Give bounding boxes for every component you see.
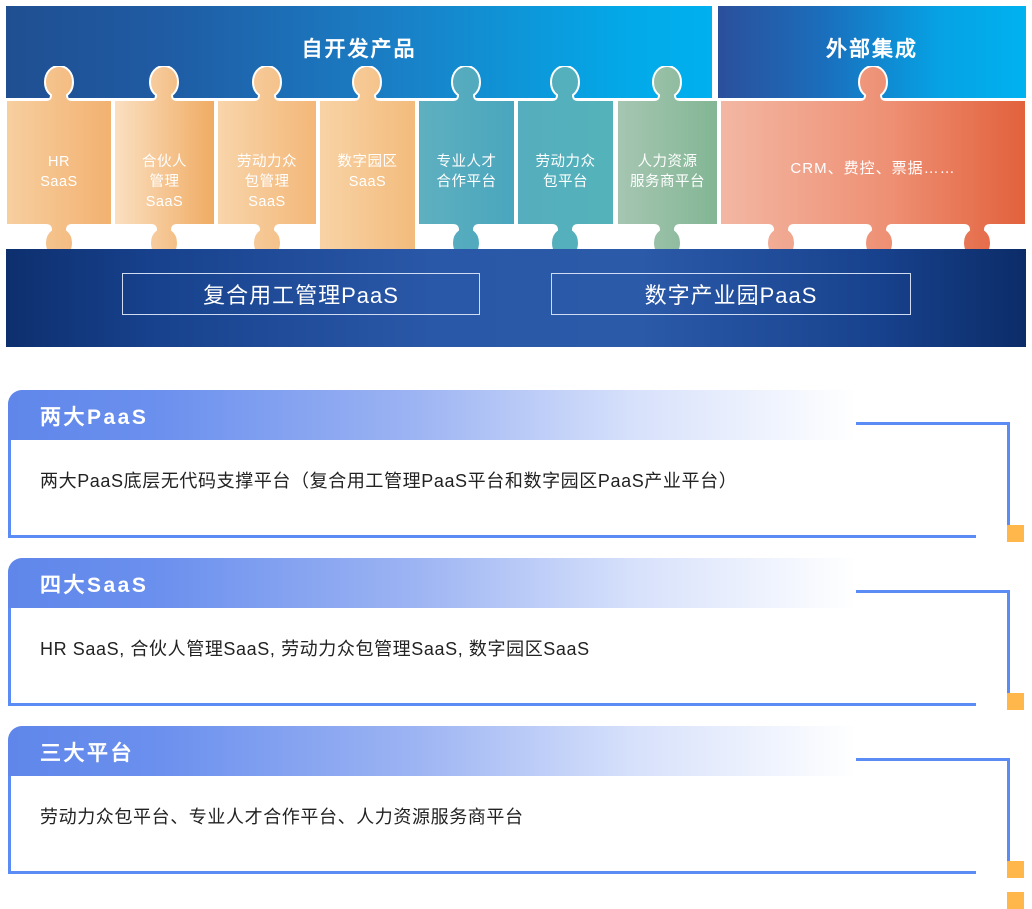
info-card-four-saas: 四大SaaS HR SaaS, 合伙人管理SaaS, 劳动力众包管理SaaS, … (8, 558, 1024, 710)
puzzle-piece-label: 数字园区 SaaS (319, 152, 416, 192)
paas-box-composite-employment[interactable]: 复合用工管理PaaS (122, 273, 480, 315)
card-body-text: 两大PaaS底层无代码支撑平台（复合用工管理PaaS平台和数字园区PaaS产业平… (40, 468, 964, 494)
frame-left-edge (8, 434, 11, 538)
frame-bottom-edge (8, 871, 976, 874)
puzzle-piece-crowdsourcing-platform[interactable]: 劳动力众 包平台 (517, 66, 614, 259)
puzzle-piece-talent-platform[interactable]: 专业人才 合作平台 (418, 66, 515, 259)
header-title-self-developed: 自开发产品 (6, 33, 712, 63)
paas-box-label: 数字产业园PaaS (645, 278, 818, 310)
orange-accent-square (1007, 861, 1024, 878)
frame-bottom-edge (8, 535, 976, 538)
card-header: 两大PaaS (8, 390, 856, 440)
puzzle-piece-label: HR SaaS (6, 152, 112, 192)
puzzle-piece-hr-saas[interactable]: HR SaaS (6, 66, 112, 259)
frame-right-edge (1007, 590, 1010, 704)
card-header: 四大SaaS (8, 558, 856, 608)
card-body-text: 劳动力众包平台、专业人才合作平台、人力资源服务商平台 (40, 804, 964, 830)
paas-box-label: 复合用工管理PaaS (203, 278, 399, 310)
card-title: 三大平台 (40, 737, 134, 767)
puzzle-piece-label: 人力资源 服务商平台 (617, 152, 718, 192)
orange-accent-square (1007, 693, 1024, 710)
header-title-external: 外部集成 (718, 33, 1026, 63)
paas-box-digital-industrial-park[interactable]: 数字产业园PaaS (551, 273, 911, 315)
frame-bottom-edge (8, 703, 976, 706)
info-card-two-paas: 两大PaaS 两大PaaS底层无代码支撑平台（复合用工管理PaaS平台和数字园区… (8, 390, 1024, 542)
external-integration-label: CRM、费控、票据…… (720, 159, 1026, 179)
puzzle-piece-label: 合伙人 管理 SaaS (114, 152, 215, 212)
card-header: 三大平台 (8, 726, 856, 776)
puzzle-piece-row: HR SaaS 合伙人 管理 SaaS 劳动力众 包管理 SaaS (6, 66, 1026, 259)
orange-accent-square-secondary (1007, 892, 1024, 909)
card-title: 两大PaaS (40, 401, 148, 431)
puzzle-piece-label: 劳动力众 包平台 (517, 152, 614, 192)
architecture-diagram: 自开发产品 外部集成 HR SaaS 合伙人 管理 SaaS (6, 6, 1026, 347)
orange-accent-square (1007, 525, 1024, 542)
puzzle-piece-label: 专业人才 合作平台 (418, 152, 515, 192)
puzzle-piece-external-integration[interactable]: CRM、费控、票据…… (720, 66, 1026, 259)
puzzle-piece-partner-saas[interactable]: 合伙人 管理 SaaS (114, 66, 215, 259)
paas-foundation-bar: 复合用工管理PaaS 数字产业园PaaS (6, 249, 1026, 347)
card-title: 四大SaaS (40, 569, 148, 599)
puzzle-piece-label: 劳动力众 包管理 SaaS (217, 152, 317, 212)
frame-right-edge (1007, 422, 1010, 536)
info-card-three-platforms: 三大平台 劳动力众包平台、专业人才合作平台、人力资源服务商平台 (8, 726, 1024, 878)
puzzle-piece-hr-service-platform[interactable]: 人力资源 服务商平台 (617, 66, 718, 259)
frame-right-edge (1007, 758, 1010, 872)
frame-left-edge (8, 770, 11, 874)
puzzle-piece-crowdsourcing-saas[interactable]: 劳动力众 包管理 SaaS (217, 66, 317, 259)
puzzle-piece-digital-park-saas[interactable]: 数字园区 SaaS (319, 66, 416, 259)
card-body-text: HR SaaS, 合伙人管理SaaS, 劳动力众包管理SaaS, 数字园区Saa… (40, 636, 964, 662)
frame-left-edge (8, 602, 11, 706)
